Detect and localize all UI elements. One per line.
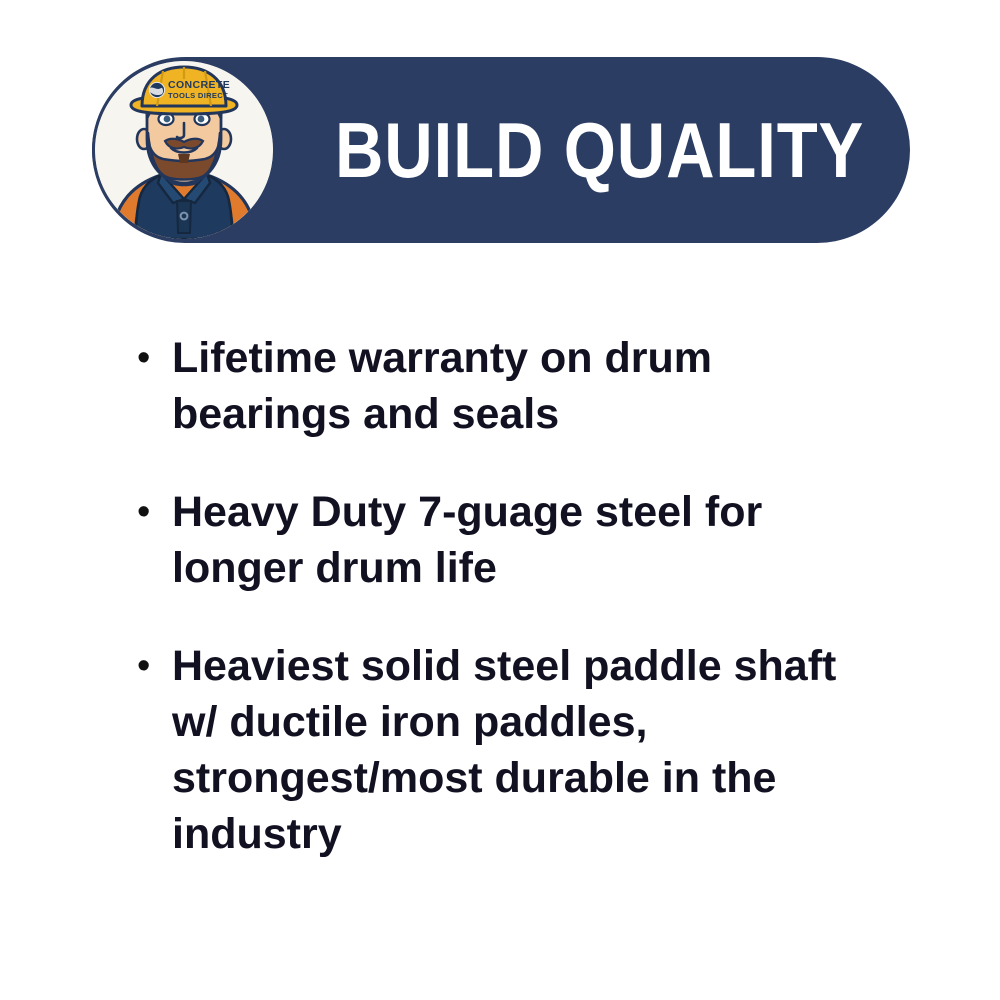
avatar: CONCRETE TOOLS DIRECT bbox=[92, 58, 276, 242]
list-item: • Lifetime warranty on drum bearings and… bbox=[133, 330, 893, 442]
globe-icon bbox=[149, 82, 164, 97]
list-item: • Heavy Duty 7-guage steel for longer dr… bbox=[133, 484, 893, 596]
feature-bullet-list: • Lifetime warranty on drum bearings and… bbox=[133, 330, 893, 862]
header-banner: BUILD QUALITY bbox=[92, 57, 910, 243]
construction-worker-avatar-icon: CONCRETE TOOLS DIRECT bbox=[95, 61, 273, 239]
list-item-text: Heavy Duty 7-guage steel for longer drum… bbox=[172, 484, 888, 596]
list-item: • Heaviest solid steel paddle shaft w/ d… bbox=[133, 638, 893, 862]
list-item-text: Lifetime warranty on drum bearings and s… bbox=[172, 330, 888, 442]
logo-line-2: TOOLS DIRECT bbox=[168, 91, 228, 100]
bullet-marker-icon: • bbox=[133, 638, 172, 694]
list-item-text: Heaviest solid steel paddle shaft w/ duc… bbox=[172, 638, 888, 862]
page-title: BUILD QUALITY bbox=[335, 57, 864, 243]
logo-line-1: CONCRETE bbox=[168, 79, 230, 91]
bullet-marker-icon: • bbox=[133, 330, 172, 386]
bullet-marker-icon: • bbox=[133, 484, 172, 540]
